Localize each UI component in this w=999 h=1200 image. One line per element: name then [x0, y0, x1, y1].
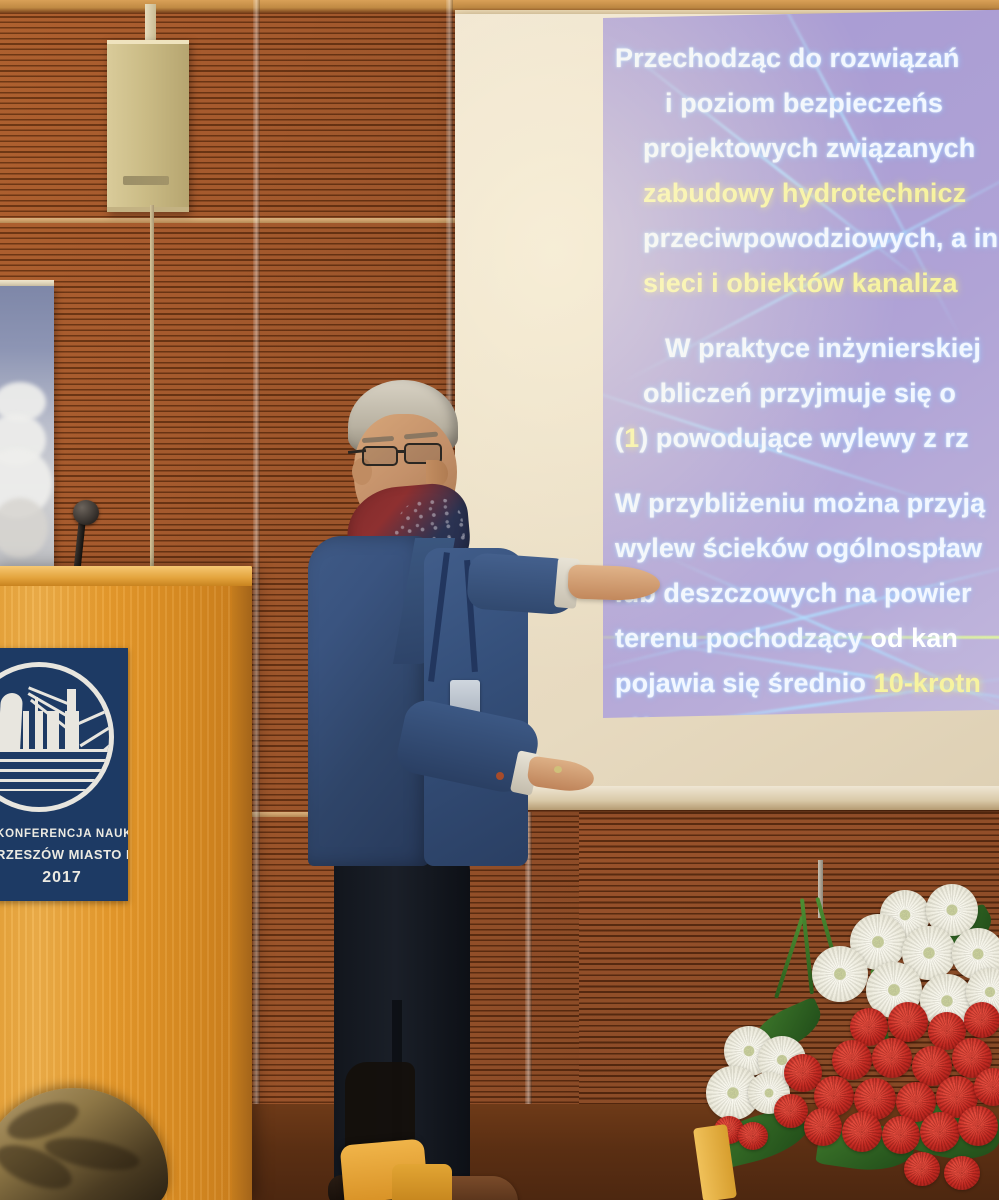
flower-red — [872, 1038, 912, 1078]
slide-line: pojawia się średnio 10-krotn — [603, 661, 999, 706]
flower-stalk — [774, 916, 804, 999]
flower-arrangement — [690, 890, 999, 1200]
flower-red — [842, 1112, 882, 1152]
slide-line: przeciwpowodziowych, a in — [603, 216, 999, 261]
slide-line-highlight: 10-krotn — [874, 668, 981, 698]
eyeglasses-bridge — [397, 450, 406, 453]
emblem-bridge-cable — [76, 705, 114, 726]
flower-red — [738, 1122, 768, 1150]
flower-red — [904, 1152, 940, 1186]
flower-red — [774, 1094, 808, 1128]
logo-line-2: RZESZÓW MIASTO PRZYSZŁOŚCI — [0, 847, 128, 862]
slide-line: W praktyce inżynierskiej — [603, 326, 999, 371]
slide-line-part: ) powodujące wylewy z rz — [639, 423, 968, 453]
presenter-nose — [426, 460, 448, 486]
slide-line: (1) powodujące wylewy z rz — [603, 416, 999, 461]
slide-line-highlight: 1 — [624, 423, 639, 453]
eyeglasses-icon — [362, 446, 398, 466]
loudspeaker-pole — [150, 205, 154, 570]
loudspeaker — [107, 40, 189, 212]
slide-line: obliczeń przyjmuje się o — [603, 371, 999, 416]
banner-cloud — [0, 498, 48, 558]
wall-pilaster-left — [253, 0, 260, 1200]
slide-line: i poziom bezpieczeńs — [603, 81, 999, 126]
slide-line: lub deszczowych na powier — [603, 571, 999, 616]
bridge-emblem-icon — [0, 662, 114, 812]
flower-red — [920, 1112, 960, 1152]
projected-slide: Przechodząc do rozwiązań i poziom bezpie… — [603, 10, 999, 718]
slide-line: terenu pochodzący od kan — [603, 616, 999, 661]
slide-line-highlight: sieci i obiektów kanaliza — [603, 261, 999, 306]
flower-red — [944, 1156, 980, 1190]
slide-line-part: terenu pochodzący — [615, 623, 870, 653]
emblem-water-lines — [0, 749, 114, 791]
slide-line: projektowych związanych — [603, 126, 999, 171]
flower-red — [964, 1002, 999, 1038]
lectern-side-edge — [232, 586, 252, 1200]
flower-red — [888, 1002, 928, 1042]
presenter-hand-lower — [526, 756, 596, 795]
flower-red — [832, 1040, 872, 1080]
flower-red — [882, 1116, 920, 1154]
flower-red — [974, 1068, 999, 1106]
flower-red — [804, 1108, 842, 1146]
flower-red — [958, 1106, 998, 1146]
lectern-top-surface — [0, 566, 252, 586]
slide-body-text: Przechodząc do rozwiązań i poziom bezpie… — [603, 14, 999, 718]
slide-line-part: pojawia się średnio — [615, 668, 874, 698]
conference-logo-plate: KONFERENCJA NAUKOWA RZESZÓW MIASTO PRZYS… — [0, 648, 128, 901]
loudspeaker-bracket — [145, 4, 156, 44]
flower-white — [812, 946, 868, 1002]
emblem-skyline — [19, 711, 79, 749]
emblem-spire — [35, 697, 38, 713]
loudspeaker-brand-mark — [123, 176, 169, 185]
slide-line-highlight: od kan — [870, 623, 958, 653]
slide-line: wylew ścieków ogólnospław — [603, 526, 999, 571]
photograph-scene: Przechodząc do rozwiązań i poziom bezpie… — [0, 0, 999, 1200]
slide-line: Przechodząc do rozwiązań — [603, 36, 999, 81]
presenter-cuff-button — [496, 772, 504, 780]
slide-line-highlight: zabudowy hydrotechnicz — [603, 171, 999, 216]
microphone-icon — [73, 500, 99, 525]
rollup-banner — [0, 286, 54, 572]
slide-line: W przybliżeniu można przyją — [603, 481, 999, 526]
foreground-chair-back-second — [392, 1164, 452, 1200]
logo-line-1: KONFERENCJA NAUKOWA — [0, 828, 128, 840]
slide-line-part: ( — [615, 423, 624, 453]
logo-line-3: 2017 — [0, 869, 128, 887]
presenter-ring — [554, 766, 562, 773]
